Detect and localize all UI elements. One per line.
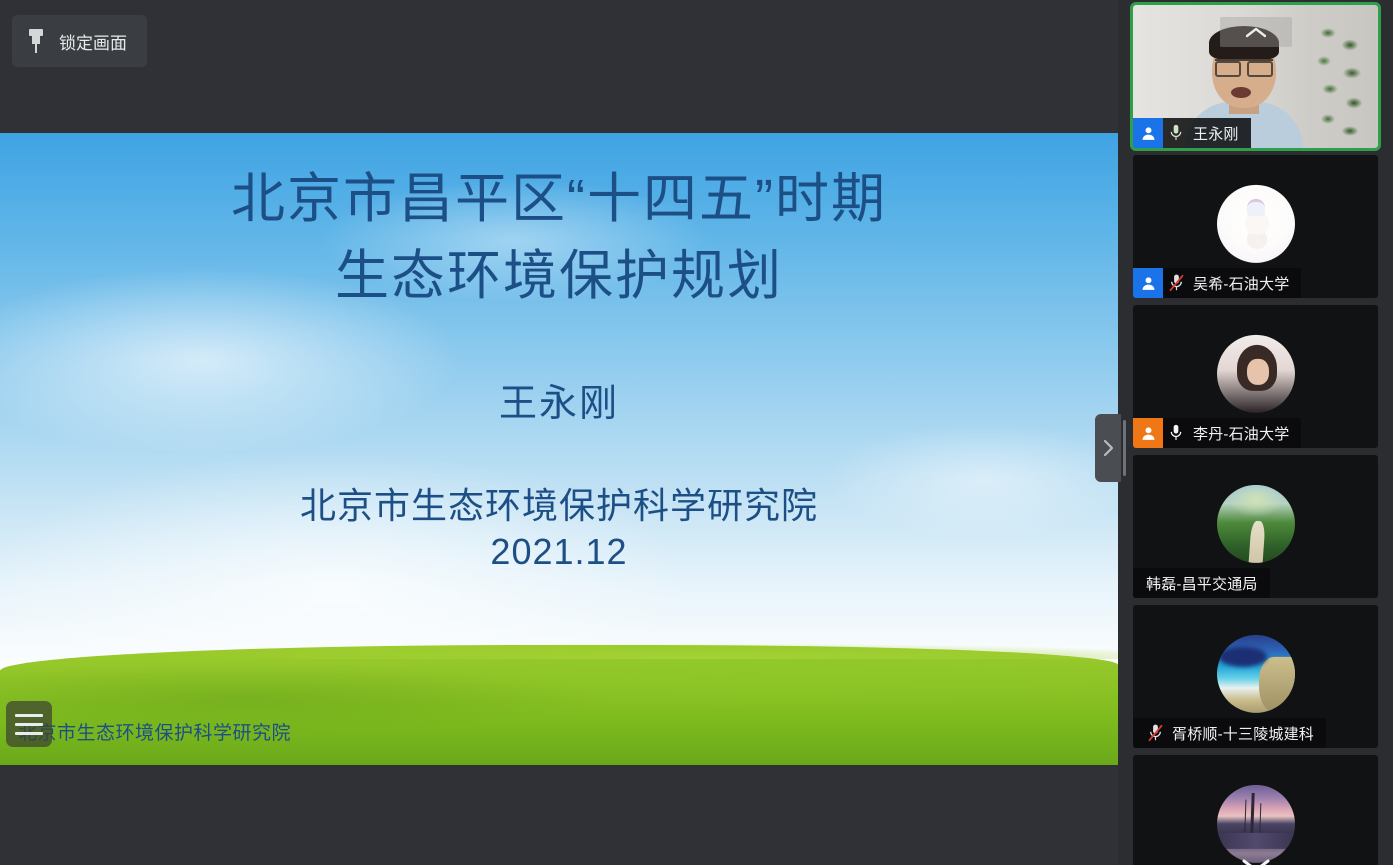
lock-screen-label: 锁定画面 bbox=[59, 29, 127, 54]
participant-tile-wang-yonggang[interactable]: 王永刚 bbox=[1133, 5, 1378, 148]
list-menu-icon[interactable] bbox=[6, 701, 52, 747]
person-icon bbox=[1133, 418, 1163, 448]
chevron-up-icon bbox=[1245, 26, 1267, 39]
participant-namebar: 胥桥顺-十三陵城建科 bbox=[1133, 718, 1326, 748]
bunny-avatar bbox=[1217, 184, 1295, 262]
presentation-slide[interactable]: 北京市昌平区“十四五”时期 生态环境保护规划 王永刚 北京市生态环境保护科学研究… bbox=[0, 133, 1118, 765]
pin-icon bbox=[26, 28, 46, 54]
plant-decoration bbox=[1310, 15, 1372, 145]
participant-filmstrip[interactable]: 王永刚 吴希-石油大学 bbox=[1128, 0, 1393, 865]
participant-name: 吴希-石油大学 bbox=[1189, 273, 1289, 294]
participant-tile-han-lei[interactable]: 韩磊-昌平交通局 bbox=[1133, 455, 1378, 598]
scroll-down-button[interactable] bbox=[1220, 850, 1292, 865]
participant-tile-li-dan[interactable]: 李丹-石油大学 bbox=[1133, 305, 1378, 448]
participant-tile-partial[interactable] bbox=[1133, 755, 1378, 865]
meeting-window: 锁定画面 北京市昌平区“十四五”时期 生态环境保护规划 王永刚 北京市生态环境保… bbox=[0, 0, 1393, 865]
girl-avatar bbox=[1217, 334, 1295, 412]
participant-tile-xu-qiaoshun[interactable]: 胥桥顺-十三陵城建科 bbox=[1133, 605, 1378, 748]
slide-date: 2021.12 bbox=[490, 531, 627, 573]
microphone-icon bbox=[1163, 124, 1189, 142]
slide-title-line2: 生态环境保护规划 bbox=[335, 238, 783, 315]
participant-name: 韩磊-昌平交通局 bbox=[1142, 573, 1258, 594]
slide-organization: 北京市生态环境保护科学研究院 bbox=[300, 477, 818, 529]
chevron-down-icon bbox=[1241, 857, 1271, 865]
forest-avatar bbox=[1217, 484, 1295, 562]
person-icon bbox=[1133, 118, 1163, 148]
participant-name: 胥桥顺-十三陵城建科 bbox=[1168, 723, 1314, 744]
participant-name: 王永刚 bbox=[1189, 123, 1239, 144]
slide-text-block: 北京市昌平区“十四五”时期 生态环境保护规划 王永刚 北京市生态环境保护科学研究… bbox=[0, 133, 1118, 765]
chevron-right-icon bbox=[1103, 439, 1114, 457]
participant-namebar: 李丹-石油大学 bbox=[1133, 418, 1301, 448]
slide-presenter-name: 王永刚 bbox=[499, 372, 619, 427]
person-icon bbox=[1133, 268, 1163, 298]
microphone-icon bbox=[1163, 424, 1189, 442]
participant-namebar: 吴希-石油大学 bbox=[1133, 268, 1301, 298]
beach-avatar bbox=[1217, 634, 1295, 712]
slide-title-line1: 北京市昌平区“十四五”时期 bbox=[231, 161, 887, 238]
slide-footer-text: 北京市生态环境保护科学研究院 bbox=[18, 718, 291, 745]
collapse-panel-handle[interactable] bbox=[1095, 414, 1121, 482]
shared-screen-stage: 锁定画面 北京市昌平区“十四五”时期 生态环境保护规划 王永刚 北京市生态环境保… bbox=[0, 0, 1118, 865]
participant-namebar: 王永刚 bbox=[1133, 118, 1251, 148]
scroll-up-button[interactable] bbox=[1220, 17, 1292, 47]
participant-tile-wu-xi[interactable]: 吴希-石油大学 bbox=[1133, 155, 1378, 298]
participant-name: 李丹-石油大学 bbox=[1189, 423, 1289, 444]
lock-screen-button[interactable]: 锁定画面 bbox=[12, 15, 147, 67]
microphone-muted-icon bbox=[1163, 274, 1189, 292]
participant-namebar: 韩磊-昌平交通局 bbox=[1133, 568, 1270, 598]
microphone-muted-icon bbox=[1142, 724, 1168, 742]
